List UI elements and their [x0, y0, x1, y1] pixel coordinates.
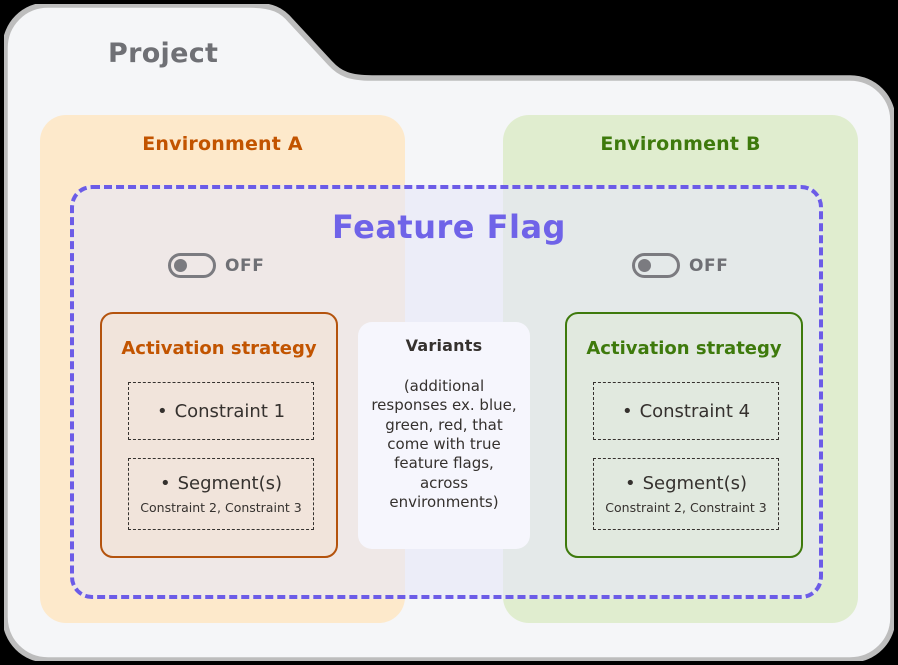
environment-a-toggle-label: OFF: [225, 256, 264, 276]
toggle-switch-icon[interactable]: [632, 253, 680, 278]
diagram-canvas: Project Environment A Environment B Feat…: [0, 0, 898, 665]
variants-description: (additional responses ex. blue, green, r…: [368, 377, 520, 512]
segment-label-wrap: •Segment(s): [160, 473, 282, 494]
segment-label-wrap: •Segment(s): [625, 473, 747, 494]
activation-strategy-b-card[interactable]: Activation strategy •Constraint 4 •Segme…: [565, 312, 803, 558]
environment-b-title: Environment B: [503, 133, 858, 155]
environment-a-toggle-row[interactable]: OFF: [168, 253, 264, 278]
activation-strategy-a-card[interactable]: Activation strategy •Constraint 1 •Segme…: [100, 312, 338, 558]
constraint-label: Constraint 4: [640, 401, 751, 422]
constraint-item[interactable]: •Constraint 1: [128, 382, 314, 440]
segment-sub-label: Constraint 2, Constraint 3: [605, 500, 766, 515]
segment-label: Segment(s): [178, 473, 282, 494]
activation-strategy-a-title: Activation strategy: [102, 338, 336, 359]
variants-title: Variants: [368, 336, 520, 355]
environment-b-toggle-row[interactable]: OFF: [632, 253, 728, 278]
activation-strategy-b-title: Activation strategy: [567, 338, 801, 359]
bullet-icon: •: [625, 475, 636, 493]
variants-card[interactable]: Variants (additional responses ex. blue,…: [358, 322, 530, 549]
constraint-label-wrap: •Constraint 4: [622, 401, 750, 422]
segment-label: Segment(s): [643, 473, 747, 494]
toggle-switch-icon[interactable]: [168, 253, 216, 278]
bullet-icon: •: [157, 403, 168, 421]
constraint-label: Constraint 1: [175, 401, 286, 422]
bullet-icon: •: [160, 475, 171, 493]
project-title: Project: [108, 38, 218, 69]
toggle-knob-icon: [174, 259, 187, 272]
segment-item[interactable]: •Segment(s) Constraint 2, Constraint 3: [128, 458, 314, 530]
toggle-knob-icon: [638, 259, 651, 272]
feature-flag-title: Feature Flag: [0, 208, 898, 246]
constraint-label-wrap: •Constraint 1: [157, 401, 285, 422]
segment-item[interactable]: •Segment(s) Constraint 2, Constraint 3: [593, 458, 779, 530]
bullet-icon: •: [622, 403, 633, 421]
environment-a-title: Environment A: [40, 133, 405, 155]
constraint-item[interactable]: •Constraint 4: [593, 382, 779, 440]
environment-b-toggle-label: OFF: [689, 256, 728, 276]
segment-sub-label: Constraint 2, Constraint 3: [140, 500, 301, 515]
